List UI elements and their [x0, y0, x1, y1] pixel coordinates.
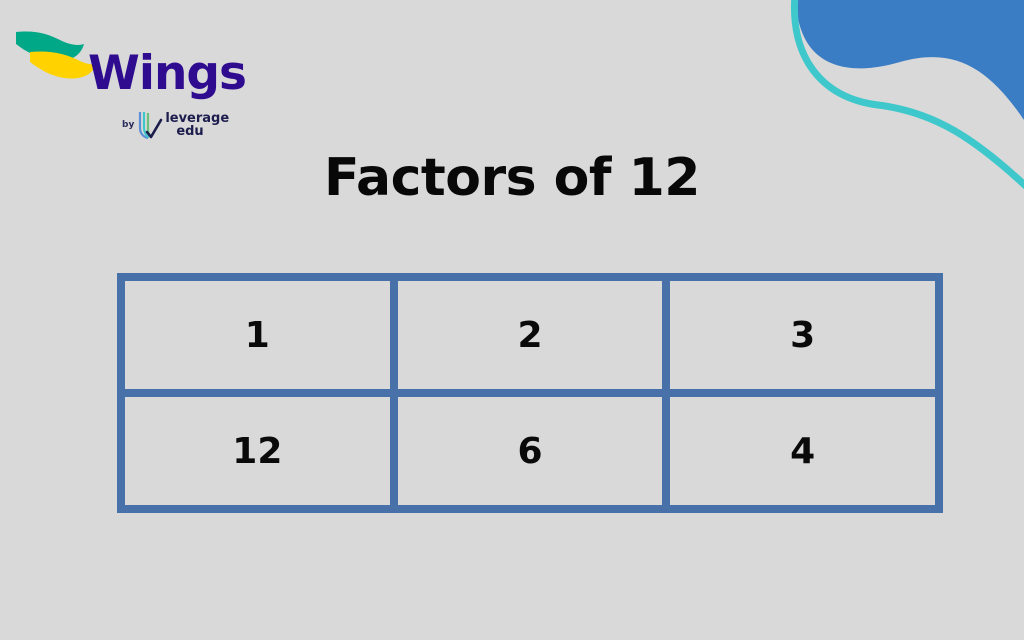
wing-bottom-shape: [30, 51, 96, 78]
partner-name: leverage edu: [165, 112, 229, 139]
table-cell: 4: [670, 397, 935, 505]
partner-line-1: leverage: [165, 112, 229, 125]
table-cell: 1: [125, 281, 390, 389]
partner-line-2: edu: [176, 125, 229, 138]
wings-logo[interactable]: Wings by leverage edu: [14, 24, 234, 136]
leverage-edu-check-icon: [137, 110, 163, 140]
partner-lockup: by leverage edu: [122, 110, 229, 140]
factors-table: 1 2 3 12 6 4: [117, 273, 943, 513]
wings-wordmark: Wings: [88, 50, 246, 97]
table-row: 1 2 3: [125, 281, 935, 389]
page-title: Factors of 12: [0, 148, 1024, 208]
table-cell: 6: [398, 397, 663, 505]
table-row: 12 6 4: [125, 397, 935, 505]
table-cell: 12: [125, 397, 390, 505]
table-cell: 3: [670, 281, 935, 389]
slide-canvas: Wings by leverage edu Factors of 12 1 2 …: [0, 0, 1024, 640]
table-cell: 2: [398, 281, 663, 389]
blue-blob-shape: [796, 0, 1024, 120]
by-label: by: [122, 120, 134, 130]
